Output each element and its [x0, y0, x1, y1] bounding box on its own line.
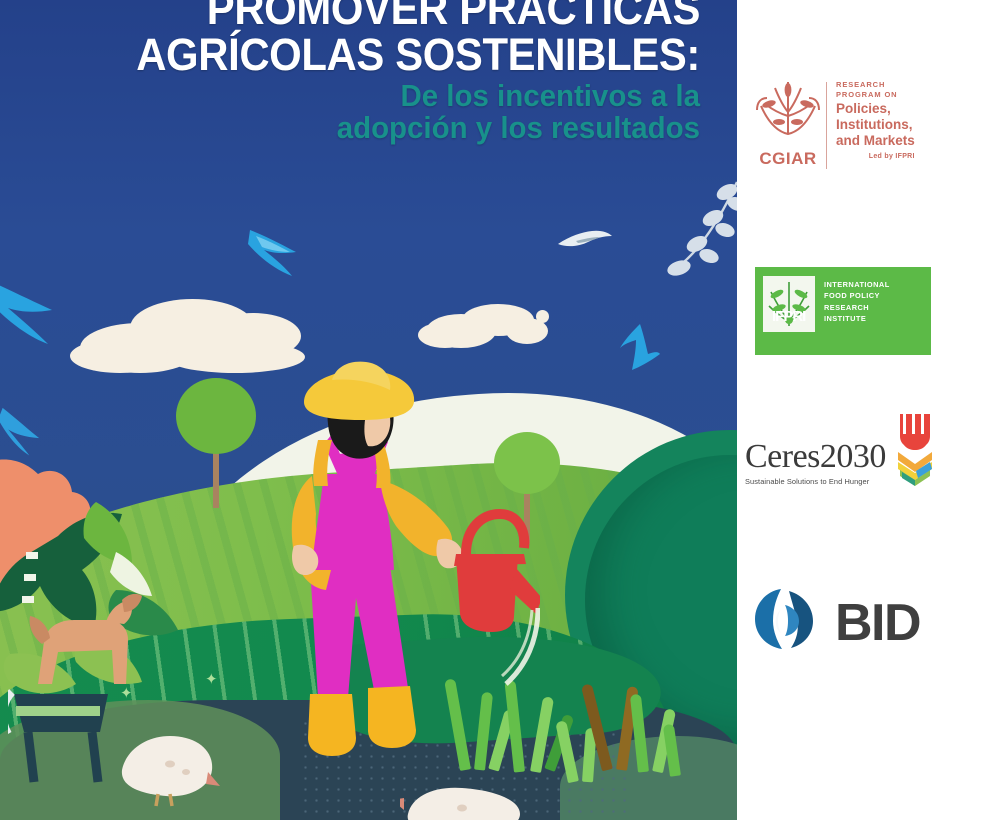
cgiar-kicker-line-1: RESEARCH: [836, 80, 915, 90]
subtitle-line-1: De los incentivos a la: [400, 78, 700, 113]
ceres-plant-icon: [894, 410, 936, 493]
cover-page: ✦ ✦ ✦ ✦ ✦ ✦ ✦ ✦ ✦: [0, 0, 1000, 820]
bid-mark: [751, 585, 823, 660]
bird-upper-left-icon: [0, 276, 60, 348]
ifpri-glyph: IFPRI: [763, 276, 815, 332]
cloud-small: [418, 300, 563, 348]
bird-center-icon: [556, 228, 614, 254]
ifpri-acronym: IFPRI: [772, 308, 805, 325]
ceres-name: Ceres2030: [745, 440, 886, 474]
ifpri-name-line-4: INSTITUTE: [824, 313, 890, 324]
farmer-illustration: [270, 358, 540, 768]
cgiar-program-line-2: Institutions,: [836, 117, 915, 133]
cloud-dot: [536, 310, 549, 323]
subtitle-line-2: adopción y los resultados: [337, 110, 700, 145]
cover-illustration: ✦ ✦ ✦ ✦ ✦ ✦ ✦ ✦ ✦: [0, 0, 737, 820]
logo-ifpri[interactable]: IFPRI INTERNATIONAL FOOD POLICY RESEARCH…: [755, 267, 931, 355]
cgiar-program-line-1: Policies,: [836, 101, 915, 117]
cover-title-block: PROMOVER PRÁCTICAS AGRÍCOLAS SOSTENIBLES…: [0, 0, 718, 145]
leaf-sprig-icon: [665, 178, 737, 303]
wheelbarrow-icon: [8, 676, 116, 793]
cgiar-led-by: Led by IFPRI: [836, 153, 915, 160]
cgiar-program-name: Policies, Institutions, and Markets: [836, 101, 915, 149]
ifpri-name-line-3: RESEARCH: [824, 302, 890, 313]
page-subtitle: De los incentivos a la adopción y los re…: [35, 80, 700, 145]
chicken-bottom-icon: [400, 780, 530, 820]
cgiar-kicker: RESEARCH PROGRAM ON: [836, 80, 915, 99]
title-line-2: AGRÍCOLAS SOSTENIBLES:: [136, 29, 700, 80]
bird-left-icon: [246, 222, 302, 280]
cgiar-kicker-line-2: PROGRAM ON: [836, 90, 915, 100]
ceres-tagline: Sustainable Solutions to End Hunger: [745, 477, 886, 486]
bid-wordmark: BID: [835, 597, 920, 649]
logo-cgiar[interactable]: CGIAR RESEARCH PROGRAM ON Policies, Inst…: [752, 80, 992, 169]
bird-right-icon: [614, 322, 662, 374]
logo-ceres2030[interactable]: Ceres2030 Sustainable Solutions to End H…: [745, 432, 995, 493]
page-title: PROMOVER PRÁCTICAS AGRÍCOLAS SOSTENIBLES…: [49, 0, 700, 78]
cgiar-program-line-3: and Markets: [836, 133, 915, 149]
ifpri-name-line-1: INTERNATIONAL: [824, 279, 890, 290]
tree-round-left: [176, 378, 256, 508]
cgiar-mark: CGIAR: [752, 80, 824, 169]
cloud-large: [70, 295, 300, 373]
cgiar-wordmark: CGIAR: [752, 149, 824, 169]
logo-bid[interactable]: BID: [751, 585, 920, 660]
ifpri-name: INTERNATIONAL FOOD POLICY RESEARCH INSTI…: [824, 276, 890, 346]
cgiar-divider: [826, 82, 827, 169]
chicken-left-icon: [112, 728, 222, 813]
ifpri-name-line-2: FOOD POLICY: [824, 290, 890, 301]
logo-panel: CGIAR RESEARCH PROGRAM ON Policies, Inst…: [737, 0, 1000, 820]
